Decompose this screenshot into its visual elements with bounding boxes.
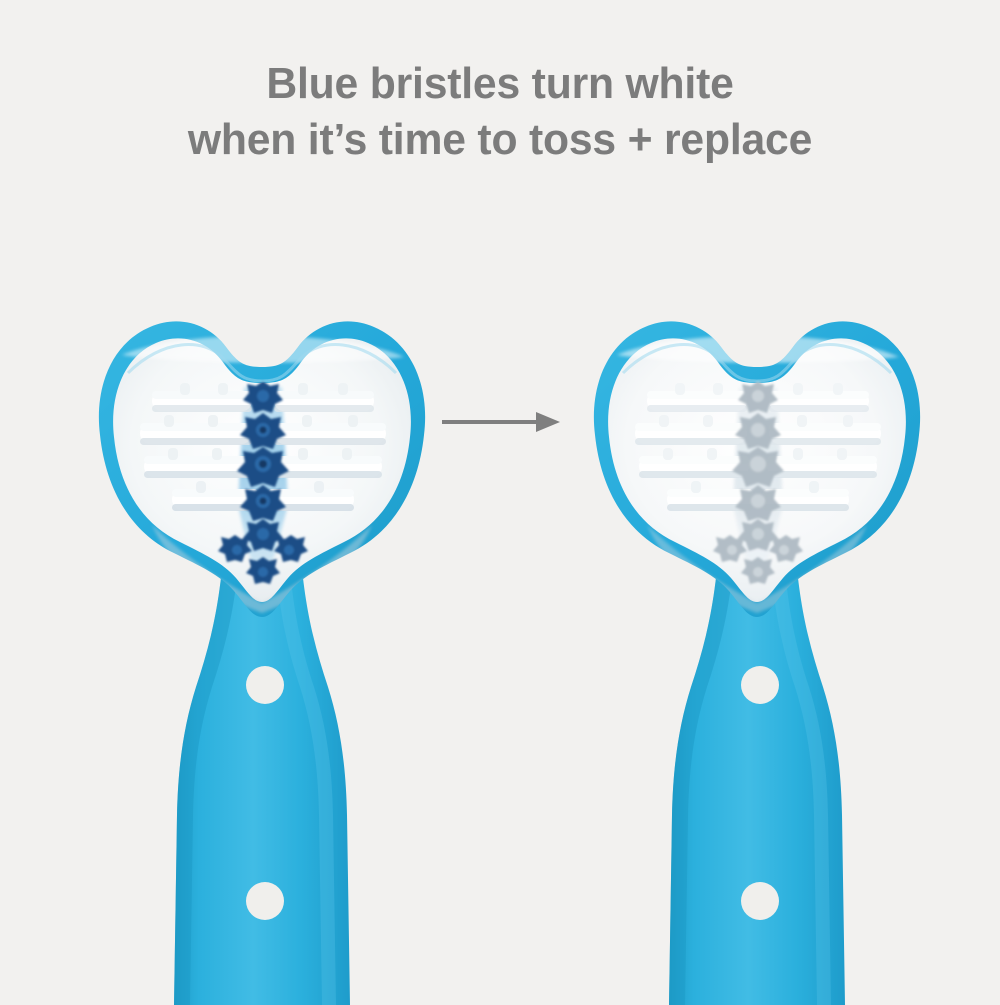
page-title: Blue bristles turn white when it’s time … [15,56,985,168]
infographic-canvas: Blue bristles turn white when it’s time … [0,0,1000,1000]
toothbrush-after: worn [587,295,927,1005]
toothbrush-before: new [92,295,432,1005]
right-arrow-icon [440,404,562,440]
headline-line-2: when it’s time to toss + replace [15,112,985,168]
headline-line-1: Blue bristles turn white [15,56,985,112]
brush-head-after [594,321,920,617]
brush-head-before [99,321,425,617]
